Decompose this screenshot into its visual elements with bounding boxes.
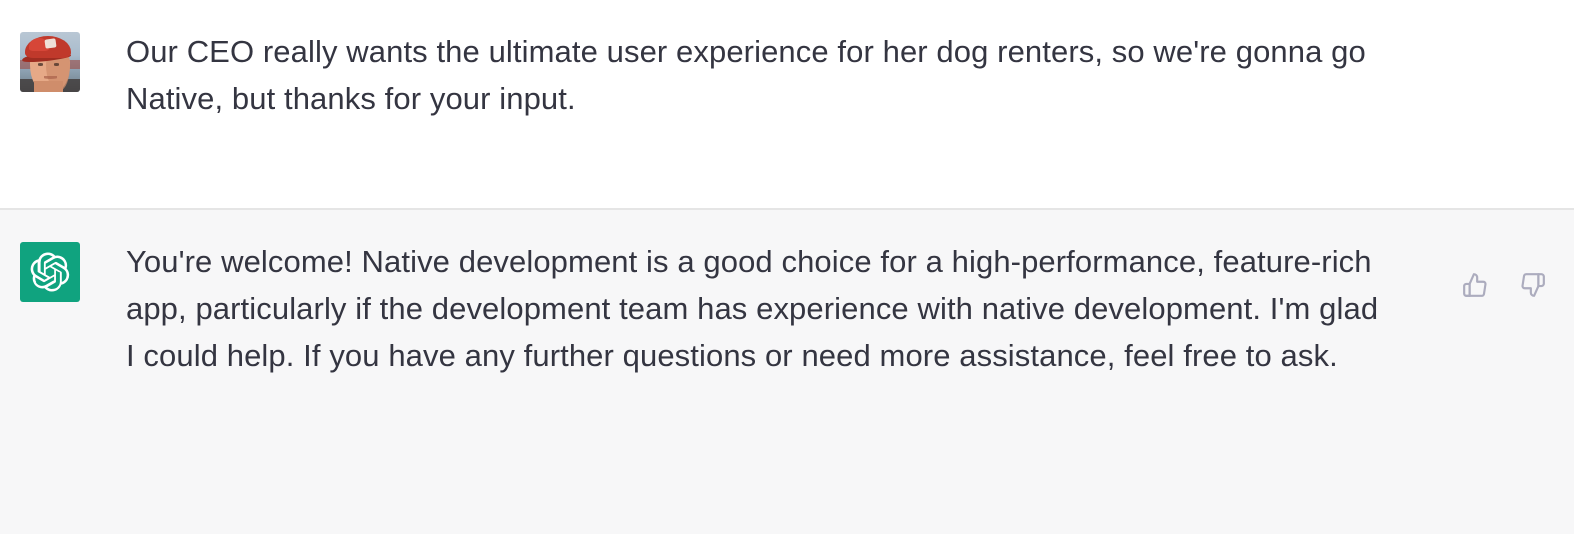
thumbs-up-icon[interactable]	[1458, 268, 1492, 302]
assistant-message-body: You're welcome! Native development is a …	[126, 238, 1574, 506]
user-message-text: Our CEO really wants the ultimate user e…	[126, 28, 1394, 122]
user-photo-avatar	[20, 32, 80, 92]
user-avatar-column	[0, 28, 126, 180]
openai-logo-icon	[20, 242, 80, 302]
user-message-body: Our CEO really wants the ultimate user e…	[126, 28, 1574, 180]
message-feedback-actions	[1458, 268, 1550, 302]
conversation-thread: Our CEO really wants the ultimate user e…	[0, 0, 1574, 534]
message-user: Our CEO really wants the ultimate user e…	[0, 0, 1574, 210]
thumbs-down-icon[interactable]	[1516, 268, 1550, 302]
assistant-avatar-column	[0, 238, 126, 506]
assistant-message-text: You're welcome! Native development is a …	[126, 238, 1394, 379]
message-assistant: You're welcome! Native development is a …	[0, 210, 1574, 534]
